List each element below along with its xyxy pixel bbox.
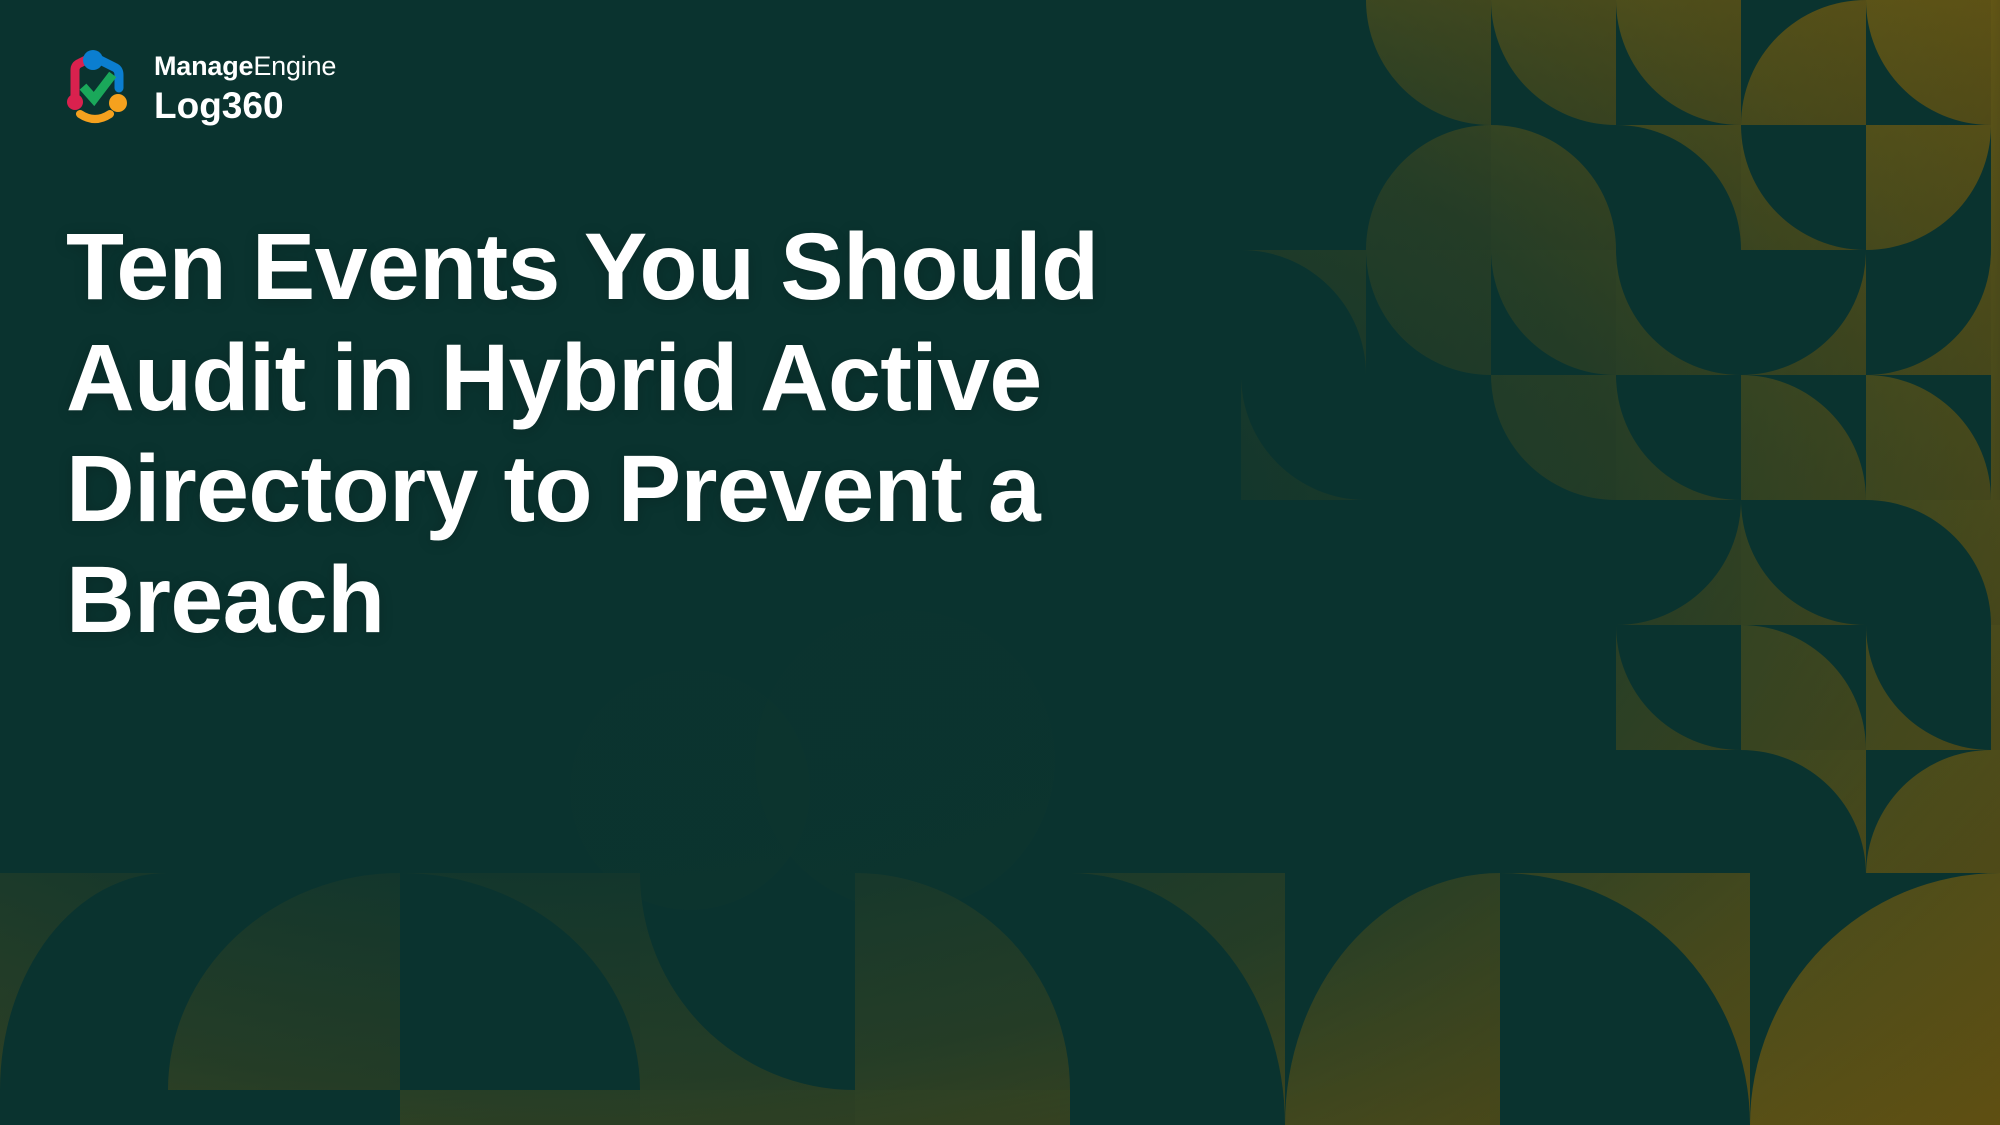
brand-name-bold: Manage [154,51,253,81]
manageengine-shield-check-icon [62,48,136,126]
brand-name-light: Engine [253,51,336,81]
logo-wordmark: ManageEngine Log360 [154,50,336,124]
brand-name: ManageEngine [154,53,336,80]
title-slide: ManageEngine Log360 Ten Events You Shoul… [0,0,2000,1125]
slide-headline: Ten Events You Should Audit in Hybrid Ac… [66,212,1356,657]
product-name: Log360 [154,87,336,124]
manageengine-log360-logo: ManageEngine Log360 [62,48,336,126]
